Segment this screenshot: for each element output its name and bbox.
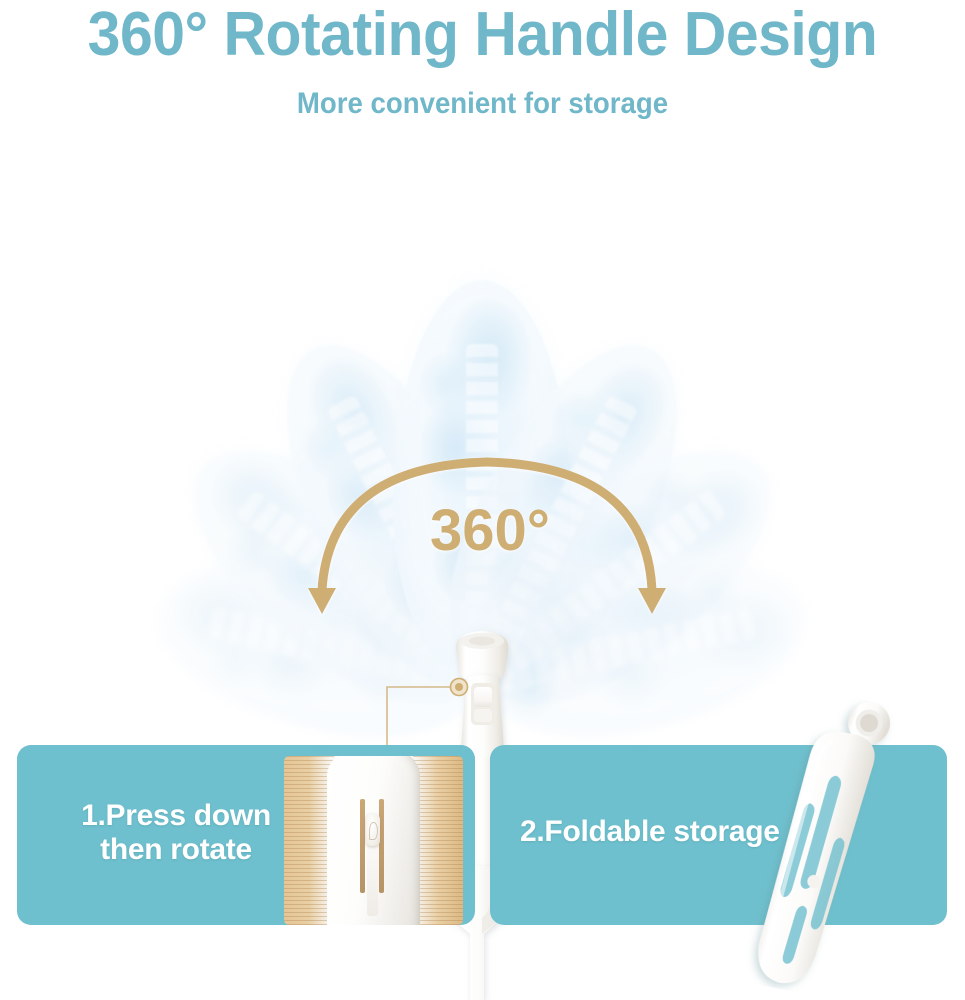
photo-release-button [366,814,380,846]
product-infographic: 360° Rotating Handle Design More conveni… [0,0,965,1000]
feature-card-1-line-2: then rotate [51,833,301,867]
feature-card-press-and-rotate[interactable]: 1.Press down then rotate [17,745,475,925]
feature-card-1-label: 1.Press down then rotate [51,799,301,867]
feature-card-1-line-1: 1.Press down [51,799,301,833]
handle-button-closeup-photo [284,756,463,925]
photo-handle-body [327,756,420,925]
photo-handle-slot-right [379,799,384,894]
photo-handle-slot-left [360,799,365,894]
photo-handle-stem [367,844,378,916]
callout-anchor-core [455,683,463,691]
bamboo-texture-right [413,756,463,925]
